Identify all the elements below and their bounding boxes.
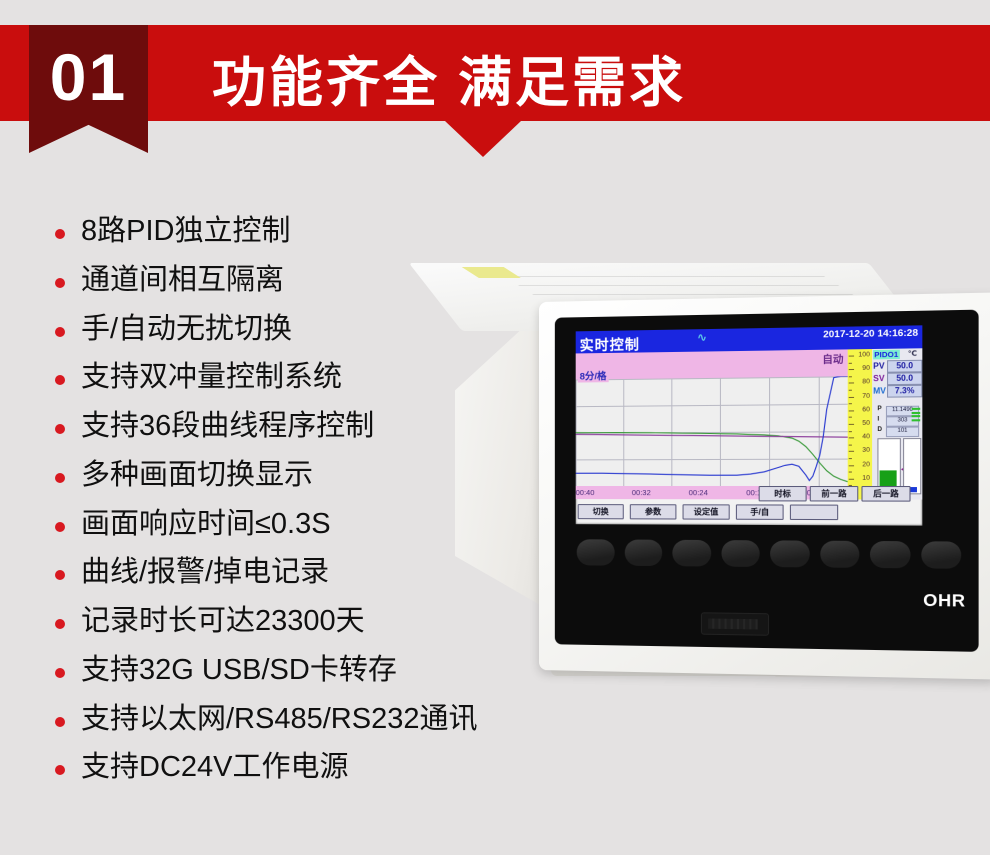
lcd-trend-curves: [576, 376, 848, 486]
device-front-bezel: 实时控制 ∿ 2017-12-20 14:16:28 自动 8分/格 00:40…: [539, 292, 990, 679]
pid-channel-name: PIDO1: [873, 350, 899, 360]
feature-list-item: 支持36段曲线程序控制: [55, 408, 485, 444]
lcd-value-tick-mark: [849, 438, 854, 439]
feature-list-item-label: 支持36段曲线程序控制: [81, 408, 374, 444]
pid-row-sv: SV 50.0: [873, 372, 921, 384]
bullet-icon: [55, 765, 65, 775]
lcd-value-tick-mark: [849, 369, 854, 370]
section-number-ribbon: 01: [29, 25, 148, 153]
feature-list-item-label: 手/自动无扰切换: [81, 311, 292, 347]
lcd-softkey[interactable]: 手/自: [736, 504, 784, 520]
pid-param-d: D 101: [877, 427, 922, 436]
feature-list-item: 画面响应时间≤0.3S: [55, 506, 485, 542]
bullet-icon: [55, 522, 65, 532]
feature-list-item-label: 支持以太网/RS485/RS232通讯: [81, 701, 477, 737]
lcd-softkey[interactable]: 切换: [578, 504, 624, 519]
bullet-icon: [55, 570, 65, 580]
lcd-value-tick: 50: [862, 421, 870, 428]
lcd-value-tick: 90: [862, 366, 870, 373]
lcd-softkey-row-upper: 时标前一路后一路: [759, 486, 923, 502]
device-hardware-button[interactable]: [721, 540, 760, 567]
device-illustration: 实时控制 ∿ 2017-12-20 14:16:28 自动 8分/格 00:40…: [455, 258, 990, 688]
device-media-slot-cover[interactable]: [701, 612, 769, 636]
pid-pv-label: PV: [873, 361, 884, 370]
lcd-value-minor-tick-mark: [849, 417, 852, 418]
lcd-value-minor-tick-mark: [849, 403, 852, 404]
pid-d-value: 101: [886, 427, 919, 437]
device-yellow-sticker: [462, 267, 521, 278]
feature-list-item: 支持以太网/RS485/RS232通讯: [55, 701, 485, 737]
bullet-icon: [55, 424, 65, 434]
lcd-value-tick: 40: [862, 434, 870, 441]
lcd-value-tick-mark: [849, 383, 854, 384]
lcd-value-tick: 80: [862, 380, 870, 387]
lcd-value-tick: 30: [862, 448, 870, 455]
feature-list-item-label: 支持32G USB/SD卡转存: [81, 652, 397, 688]
lcd-value-tick-mark: [849, 356, 854, 357]
lcd-mode-value: 自动: [822, 350, 843, 366]
section-number: 01: [50, 44, 127, 110]
lcd-trend-series-pv: [576, 431, 848, 482]
lcd-value-tick-mark: [849, 451, 854, 452]
lcd-trend-series-mv: [576, 376, 848, 480]
bullet-icon: [55, 229, 65, 239]
bullet-icon: [55, 473, 65, 483]
lcd-value-minor-tick-mark: [849, 390, 852, 391]
lcd-pid-panel: PIDO1 ℃ PV 50.0 SV 50.0 MV 7.3%: [872, 348, 922, 499]
pid-sv-value: 50.0: [887, 372, 922, 385]
device-lcd-screen[interactable]: 实时控制 ∿ 2017-12-20 14:16:28 自动 8分/格 00:40…: [576, 325, 923, 525]
lcd-time-tick: 00:24: [689, 488, 708, 497]
lcd-softkey[interactable]: 参数: [630, 504, 677, 519]
device-hardware-button[interactable]: [624, 540, 662, 567]
lcd-value-tick-mark: [849, 465, 854, 466]
lcd-softkey[interactable]: 设定值: [683, 504, 730, 519]
pid-row-pv: PV 50.0: [873, 360, 921, 372]
feature-list-item: 8路PID独立控制: [55, 213, 485, 249]
feature-list-item-label: 曲线/报警/掉电记录: [81, 554, 329, 590]
lcd-value-minor-tick-mark: [849, 458, 852, 459]
lcd-value-tick: 70: [862, 393, 870, 400]
bullet-icon: [55, 327, 65, 337]
lcd-value-tick-mark: [849, 479, 854, 480]
lcd-value-tick-mark: [849, 397, 854, 398]
bullet-icon: [55, 668, 65, 678]
pid-status-leds: [912, 408, 921, 423]
lcd-value-minor-tick-mark: [849, 362, 852, 363]
pid-unit-label: ℃: [908, 349, 917, 357]
feature-list-item: 多种画面切换显示: [55, 457, 485, 493]
lcd-value-minor-tick-mark: [849, 472, 852, 473]
pid-p-label: P: [877, 406, 881, 412]
lcd-trend-plot: [576, 365, 848, 486]
device-hardware-button[interactable]: [672, 540, 710, 567]
lcd-value-minor-tick-mark: [849, 376, 852, 377]
device-hardware-button[interactable]: [820, 541, 860, 568]
feature-list-item-label: 多种画面切换显示: [81, 457, 313, 493]
feature-list-item: 支持双冲量控制系统: [55, 359, 485, 395]
bullet-icon: [55, 619, 65, 629]
lcd-time-tick: 00:40: [576, 488, 595, 497]
feature-list-item: 手/自动无扰切换: [55, 311, 485, 347]
lcd-value-tick-mark: [849, 410, 854, 411]
pid-d-label: D: [877, 427, 882, 433]
feature-list-item-label: 通道间相互隔离: [81, 262, 284, 298]
bullet-icon: [55, 375, 65, 385]
lcd-value-tick: 100: [858, 352, 870, 359]
feature-list-item-label: 8路PID独立控制: [81, 213, 290, 249]
lcd-softkey-row-lower: 切换参数设定值手/自: [578, 501, 923, 523]
lcd-value-tick-mark: [849, 424, 854, 425]
pid-pv-value: 50.0: [887, 360, 922, 373]
device-media-slot-detail: [708, 618, 758, 629]
lcd-softkey[interactable]: 后一路: [861, 486, 910, 502]
device-black-panel: 实时控制 ∿ 2017-12-20 14:16:28 自动 8分/格 00:40…: [555, 310, 979, 652]
lcd-softkey-blank[interactable]: [790, 505, 838, 521]
device-hardware-button[interactable]: [921, 541, 961, 568]
pid-sv-label: SV: [873, 374, 884, 383]
device-brand-logo: OHR: [923, 590, 965, 611]
lcd-softkey[interactable]: 时标: [759, 486, 807, 501]
feature-list-item-label: 记录时长可达23300天: [81, 603, 365, 639]
feature-list-item: 支持DC24V工作电源: [55, 749, 485, 785]
device-hardware-button[interactable]: [870, 541, 910, 568]
lcd-wave-logo-icon: ∿: [697, 330, 707, 344]
lcd-timebase-label: 8分/格: [578, 368, 609, 382]
feature-list-item: 曲线/报警/掉电记录: [55, 554, 485, 590]
lcd-value-scale: 1009080706050403020100: [848, 349, 872, 499]
lcd-time-tick: 00:32: [632, 488, 651, 497]
feature-list-item-label: 支持双冲量控制系统: [81, 359, 342, 395]
page-title: 功能齐全 满足需求: [212, 38, 686, 117]
lcd-value-tick: 20: [862, 462, 870, 469]
pid-row-mv: MV 7.3%: [873, 385, 921, 397]
pid-mv-label: MV: [873, 386, 886, 395]
bullet-icon: [55, 717, 65, 727]
feature-list-item-label: 支持DC24V工作电源: [81, 749, 349, 785]
device-hardware-button[interactable]: [770, 540, 809, 567]
lcd-value-tick: 60: [862, 407, 870, 414]
lcd-value-minor-tick-mark: [849, 431, 852, 432]
pid-mv-value: 7.3%: [887, 385, 922, 398]
header-banner-notch: [445, 121, 521, 157]
device-hardware-button-row: [577, 539, 962, 577]
feature-list: 8路PID独立控制通道间相互隔离手/自动无扰切换支持双冲量控制系统支持36段曲线…: [55, 213, 485, 798]
device-hardware-button[interactable]: [577, 539, 615, 565]
pid-i-label: I: [877, 416, 879, 422]
bullet-icon: [55, 278, 65, 288]
feature-list-item-label: 画面响应时间≤0.3S: [81, 506, 331, 542]
feature-list-item: 支持32G USB/SD卡转存: [55, 652, 485, 688]
lcd-datetime: 2017-12-20 14:16:28: [823, 327, 918, 340]
feature-list-item: 记录时长可达23300天: [55, 603, 485, 639]
lcd-value-tick: 10: [862, 475, 870, 482]
lcd-value-minor-tick-mark: [849, 444, 852, 445]
lcd-softkey[interactable]: 前一路: [810, 486, 859, 502]
